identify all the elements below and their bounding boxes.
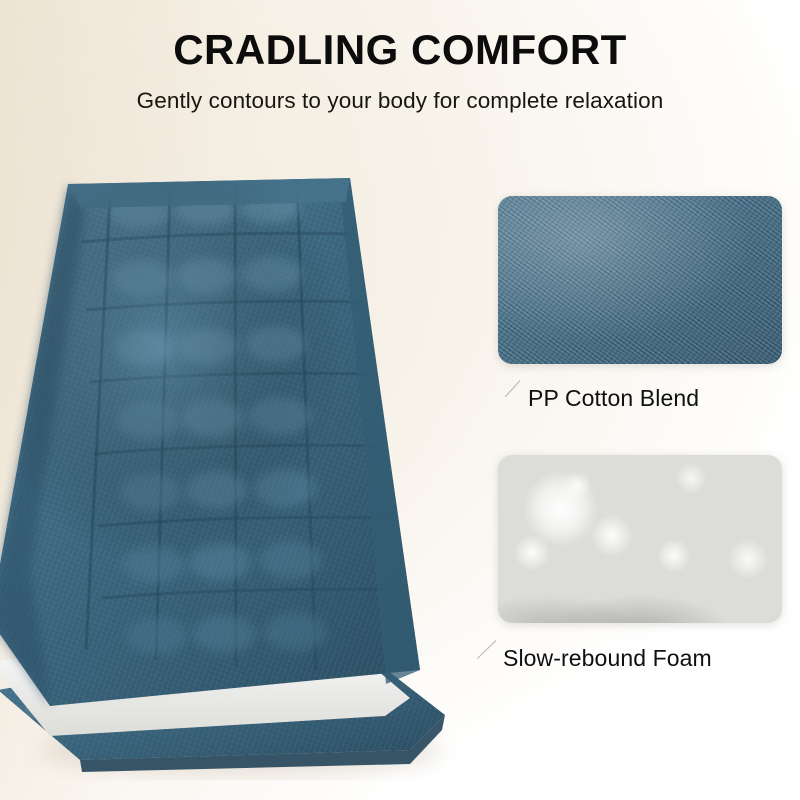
foam-fill-swatch	[498, 455, 782, 623]
foam-caption: Slow-rebound Foam	[503, 645, 712, 672]
fabric-sheen-overlay	[498, 196, 782, 364]
product-cushion-image	[0, 150, 460, 780]
cushion-illustration	[0, 150, 460, 780]
leader-line-foam	[477, 640, 496, 659]
promo-image-canvas: CRADLING COMFORT Gently contours to your…	[0, 0, 800, 800]
fabric-caption: PP Cotton Blend	[528, 385, 699, 412]
page-subtitle: Gently contours to your body for complet…	[0, 88, 800, 114]
foam-shading-overlay	[498, 455, 782, 623]
fabric-weave-swatch	[498, 196, 782, 364]
leader-line-fabric	[505, 380, 520, 397]
page-title: CRADLING COMFORT	[0, 28, 800, 72]
